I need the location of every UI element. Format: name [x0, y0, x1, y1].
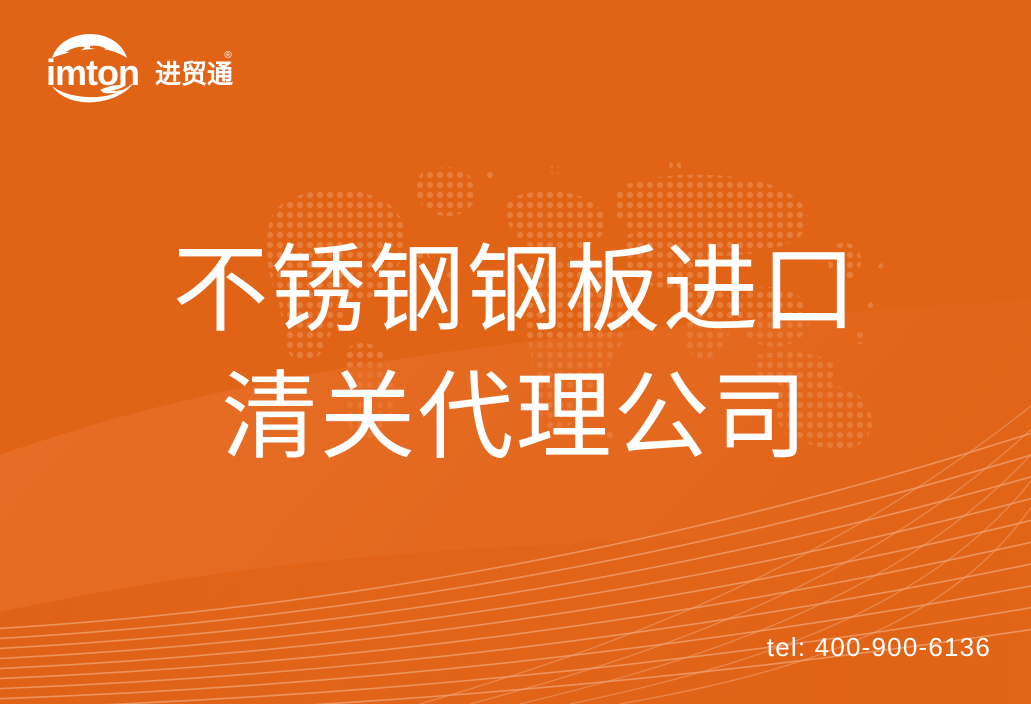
imton-logo[interactable]: imton 进贸通 ®: [38, 28, 238, 106]
logo-chinese-name: 进贸通: [155, 59, 233, 89]
logo-wordmark: imton: [46, 52, 139, 93]
telephone-text: tel: 400-900-6136: [767, 632, 991, 663]
headline-line-2: 清关代理公司: [0, 355, 1031, 482]
headline: 不锈钢钢板进口 清关代理公司: [0, 228, 1031, 481]
registered-trademark-icon: ®: [224, 50, 232, 61]
headline-line-1: 不锈钢钢板进口: [0, 228, 1031, 355]
promotional-banner: imton 进贸通 ® 不锈钢钢板进口 清关代理公司 tel: 400-900-…: [0, 0, 1031, 704]
